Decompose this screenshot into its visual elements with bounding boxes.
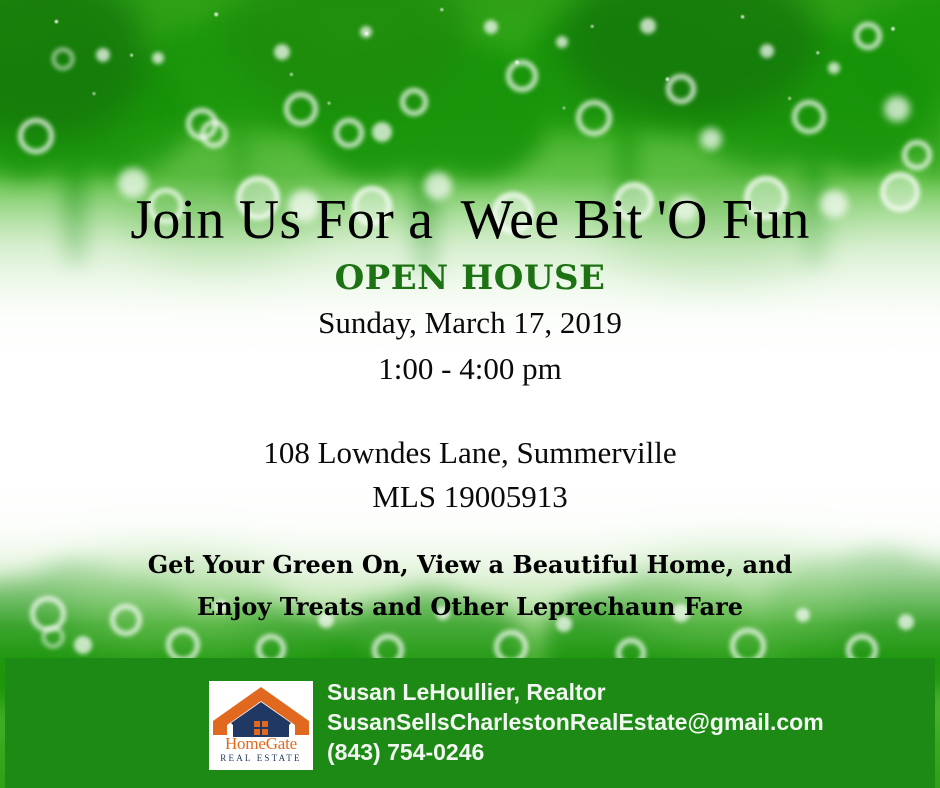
event-type-heading: OPEN HOUSE [0, 258, 940, 298]
property-address: 108 Lowndes Lane, Summerville [0, 434, 940, 472]
agent-contact-block: Susan LeHoullier, Realtor SusanSellsChar… [327, 677, 927, 767]
open-house-flyer: Join Us For a Wee Bit 'O Fun OPEN HOUSE … [0, 0, 940, 788]
page-title: Join Us For a Wee Bit 'O Fun [0, 189, 940, 251]
brand-logo: HomeGate REAL ESTATE [209, 681, 313, 770]
logo-wordmark: HomeGate [209, 734, 313, 753]
agent-phone[interactable]: (843) 754-0246 [327, 737, 927, 767]
contact-footer-bar: HomeGate REAL ESTATE Susan LeHoullier, R… [5, 658, 935, 788]
agent-name: Susan LeHoullier, Realtor [327, 677, 927, 707]
logo-tagline: REAL ESTATE [209, 753, 313, 764]
event-date: Sunday, March 17, 2019 [0, 304, 940, 342]
tagline: Get Your Green On, View a Beautiful Home… [0, 544, 940, 628]
house-gate-icon [209, 685, 313, 737]
agent-email[interactable]: SusanSellsCharlestonRealEstate@gmail.com [327, 707, 927, 737]
tagline-line-2: Enjoy Treats and Other Leprechaun Fare [0, 586, 940, 628]
event-time: 1:00 - 4:00 pm [0, 350, 940, 388]
tagline-line-1: Get Your Green On, View a Beautiful Home… [0, 544, 940, 586]
mls-number: MLS 19005913 [0, 478, 940, 516]
